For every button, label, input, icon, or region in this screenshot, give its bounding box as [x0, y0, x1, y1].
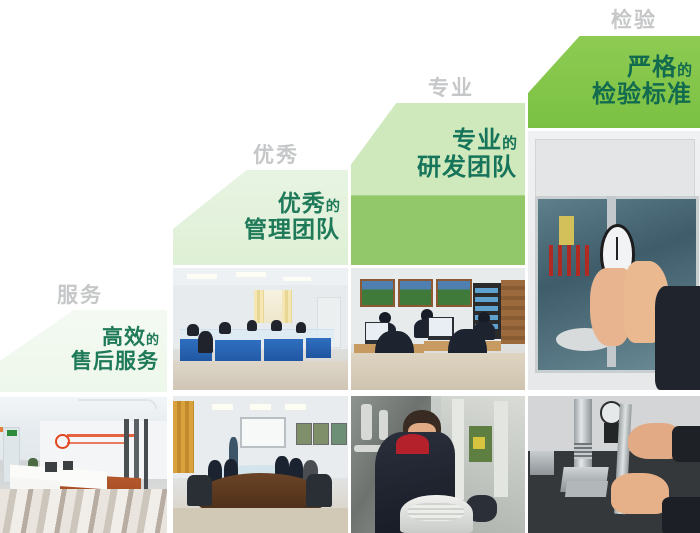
photo-worker-machine [351, 396, 525, 533]
step-block-research: 专业的 研发团队 [351, 103, 525, 265]
step-block-service: 高效的 售后服务 [0, 310, 167, 392]
step-particle-research: 的 [502, 134, 517, 152]
step-text-inspection: 严格的 检验标准 [592, 54, 692, 108]
step-line1-inspection: 严格 [627, 53, 677, 81]
step-text-research: 专业的 研发团队 [417, 127, 517, 181]
step-line1-management: 优秀 [278, 191, 326, 217]
poster-canvas: 服务 高效的 售后服务 优秀 [0, 0, 700, 533]
step-particle-inspection: 的 [677, 61, 692, 79]
photo-rd-office [351, 268, 525, 390]
caption-service: 服务 [57, 285, 103, 306]
photo-inspection-cabinet [528, 131, 700, 390]
step-block-management: 优秀的 管理团队 [173, 170, 348, 265]
step-block-inspection: 严格的 检验标准 [528, 36, 700, 128]
caption-inspection: 检验 [611, 10, 657, 31]
step-particle-service: 的 [146, 333, 159, 348]
photo-cubicle-office [173, 268, 348, 390]
step-text-management: 优秀的 管理团队 [244, 192, 340, 244]
photo-caliper-measure [528, 396, 700, 533]
step-line1-research: 专业 [452, 126, 502, 154]
step-text-service: 高效的 售后服务 [71, 326, 159, 373]
caption-management: 优秀 [253, 145, 299, 166]
photo-reception-lobby [0, 397, 167, 533]
step-line2-inspection: 检验标准 [592, 81, 692, 108]
photo-meeting-room [173, 396, 348, 533]
step-line2-management: 管理团队 [244, 218, 340, 244]
caption-research: 专业 [428, 78, 474, 99]
step-particle-management: 的 [326, 199, 340, 215]
step-line1-service: 高效 [102, 325, 146, 349]
step-line2-service: 售后服务 [71, 350, 159, 374]
step-line2-research: 研发团队 [417, 154, 517, 181]
